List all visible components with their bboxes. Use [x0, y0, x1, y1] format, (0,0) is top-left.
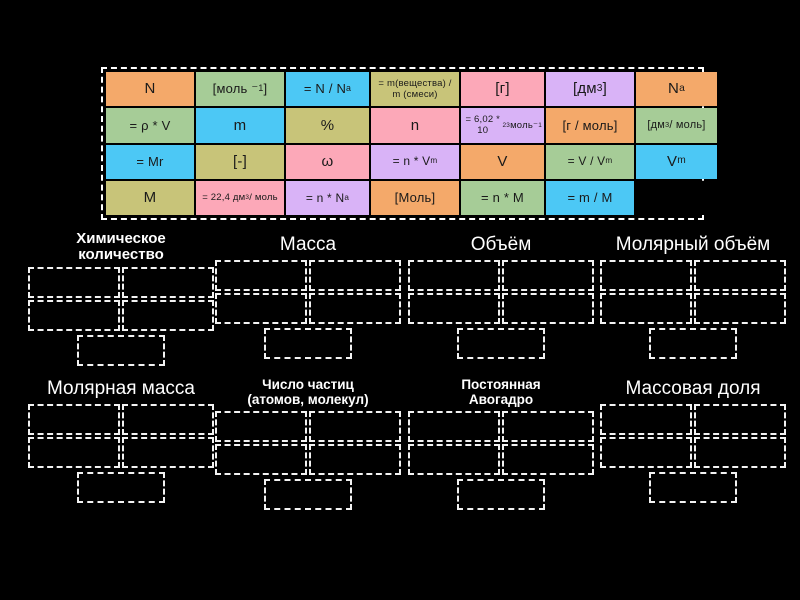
drop-slot-row — [215, 444, 401, 475]
drop-slot-row — [215, 328, 401, 359]
draggable-tile[interactable]: m — [196, 108, 284, 142]
drop-slot[interactable] — [77, 335, 165, 366]
draggable-tile[interactable]: = m(вещества) / m (смеси) — [371, 72, 459, 106]
drop-slot-grid — [408, 260, 594, 359]
drop-slot-row — [215, 293, 401, 324]
draggable-tile[interactable]: N — [106, 72, 194, 106]
drop-slot-row — [28, 472, 214, 503]
draggable-tile[interactable]: ω — [286, 145, 369, 179]
drop-slot[interactable] — [408, 444, 500, 475]
draggable-tile[interactable]: = 22,4 дм3 / моль — [196, 181, 284, 215]
drop-slot-grid — [600, 260, 786, 359]
answer-group: Молярный объём — [600, 235, 786, 359]
drop-slot[interactable] — [309, 411, 401, 442]
drop-slot-row — [600, 328, 786, 359]
drop-slot-row — [28, 300, 214, 331]
drop-slot[interactable] — [600, 293, 692, 324]
drop-slot-row — [215, 260, 401, 291]
drop-slot[interactable] — [122, 437, 214, 468]
group-title: Массовая доля — [600, 379, 786, 400]
drop-slot[interactable] — [502, 293, 594, 324]
drop-slot[interactable] — [28, 437, 120, 468]
drop-slot[interactable] — [694, 437, 786, 468]
activity-canvas: N[моль ⁻1]= N / Na= m(вещества) / m (сме… — [0, 0, 800, 600]
drop-slot[interactable] — [694, 293, 786, 324]
draggable-tile[interactable]: Vm — [636, 145, 717, 179]
draggable-tile[interactable]: [моль ⁻1] — [196, 72, 284, 106]
drop-slot-grid — [28, 404, 214, 503]
drop-slot[interactable] — [215, 411, 307, 442]
drop-slot-row — [600, 437, 786, 468]
drop-slot[interactable] — [122, 300, 214, 331]
drop-slot-row — [28, 437, 214, 468]
drop-slot[interactable] — [309, 444, 401, 475]
answer-group: Массовая доля — [600, 379, 786, 503]
answer-group: Масса — [215, 235, 401, 359]
drop-slot[interactable] — [694, 404, 786, 435]
draggable-tile[interactable]: = Mr — [106, 145, 194, 179]
drop-slot-row — [600, 404, 786, 435]
tile-bank: N[моль ⁻1]= N / Na= m(вещества) / m (сме… — [101, 67, 704, 220]
answer-group: Постоянная Авогадро — [408, 378, 594, 510]
drop-slot[interactable] — [457, 479, 545, 510]
drop-slot[interactable] — [28, 404, 120, 435]
drop-slot[interactable] — [28, 300, 120, 331]
drop-slot-row — [408, 328, 594, 359]
draggable-tile[interactable]: = n * Na — [286, 181, 369, 215]
draggable-tile[interactable]: Na — [636, 72, 717, 106]
group-title: Молярный объём — [600, 235, 786, 256]
drop-slot[interactable] — [309, 293, 401, 324]
drop-slot-row — [408, 411, 594, 442]
group-title: Число частиц (атомов, молекул) — [215, 378, 401, 407]
drop-slot[interactable] — [457, 328, 545, 359]
answer-group: Объём — [408, 235, 594, 359]
drop-slot[interactable] — [649, 472, 737, 503]
drop-slot-grid — [408, 411, 594, 510]
drop-slot[interactable] — [264, 328, 352, 359]
drop-slot-row — [28, 267, 214, 298]
group-title: Постоянная Авогадро — [408, 378, 594, 407]
drop-slot-row — [600, 472, 786, 503]
drop-slot[interactable] — [309, 260, 401, 291]
draggable-tile[interactable]: [г / моль] — [546, 108, 634, 142]
drop-slot[interactable] — [502, 444, 594, 475]
drop-slot[interactable] — [408, 293, 500, 324]
drop-slot[interactable] — [600, 404, 692, 435]
draggable-tile[interactable]: [-] — [196, 145, 284, 179]
drop-slot[interactable] — [408, 411, 500, 442]
drop-slot-row — [215, 479, 401, 510]
drop-slot[interactable] — [122, 404, 214, 435]
drop-slot[interactable] — [600, 260, 692, 291]
group-title: Молярная масса — [28, 379, 214, 400]
drop-slot-row — [408, 444, 594, 475]
group-title: Химическое количество — [28, 231, 214, 263]
drop-slot-grid — [28, 267, 214, 366]
drop-slot[interactable] — [502, 260, 594, 291]
draggable-tile[interactable]: = V / Vm — [546, 145, 634, 179]
draggable-tile[interactable]: = ρ * V — [106, 108, 194, 142]
drop-slot[interactable] — [408, 260, 500, 291]
answer-group: Химическое количество — [28, 231, 214, 366]
drop-slot-row — [408, 479, 594, 510]
drop-slot-grid — [215, 260, 401, 359]
draggable-tile[interactable]: % — [286, 108, 369, 142]
drop-slot[interactable] — [77, 472, 165, 503]
drop-slot[interactable] — [264, 479, 352, 510]
drop-slot-row — [28, 335, 214, 366]
draggable-tile[interactable]: = n * Vm — [371, 145, 459, 179]
draggable-tile[interactable]: V — [461, 145, 544, 179]
drop-slot[interactable] — [694, 260, 786, 291]
draggable-tile[interactable]: n — [371, 108, 459, 142]
draggable-tile[interactable]: = N / Na — [286, 72, 369, 106]
answer-group: Молярная масса — [28, 379, 214, 503]
group-title: Объём — [408, 235, 594, 256]
drop-slot[interactable] — [215, 444, 307, 475]
draggable-tile[interactable]: = 6,02 * 1023 моль⁻1 — [461, 108, 544, 142]
drop-slot[interactable] — [215, 293, 307, 324]
drop-slot-row — [600, 293, 786, 324]
drop-slot-row — [28, 404, 214, 435]
draggable-tile[interactable]: [Моль] — [371, 181, 459, 215]
tile-bank-grid: N[моль ⁻1]= N / Na= m(вещества) / m (сме… — [106, 72, 699, 215]
drop-slot[interactable] — [649, 328, 737, 359]
group-title: Масса — [215, 235, 401, 256]
drop-slot[interactable] — [215, 260, 307, 291]
draggable-tile[interactable]: [г] — [461, 72, 544, 106]
drop-slot-row — [408, 260, 594, 291]
draggable-tile[interactable]: = n * M — [461, 181, 544, 215]
draggable-tile[interactable]: [дм3 / моль] — [636, 108, 717, 142]
tile-empty-slot — [636, 181, 717, 215]
drop-slot-grid — [600, 404, 786, 503]
drop-slot-row — [408, 293, 594, 324]
draggable-tile[interactable]: M — [106, 181, 194, 215]
drop-slot-grid — [215, 411, 401, 510]
drop-slot[interactable] — [600, 437, 692, 468]
drop-slot[interactable] — [122, 267, 214, 298]
draggable-tile[interactable]: [дм3] — [546, 72, 634, 106]
draggable-tile[interactable]: = m / M — [546, 181, 634, 215]
drop-slot[interactable] — [502, 411, 594, 442]
drop-slot-row — [215, 411, 401, 442]
drop-slot-row — [600, 260, 786, 291]
answer-group: Число частиц (атомов, молекул) — [215, 378, 401, 510]
drop-slot[interactable] — [28, 267, 120, 298]
